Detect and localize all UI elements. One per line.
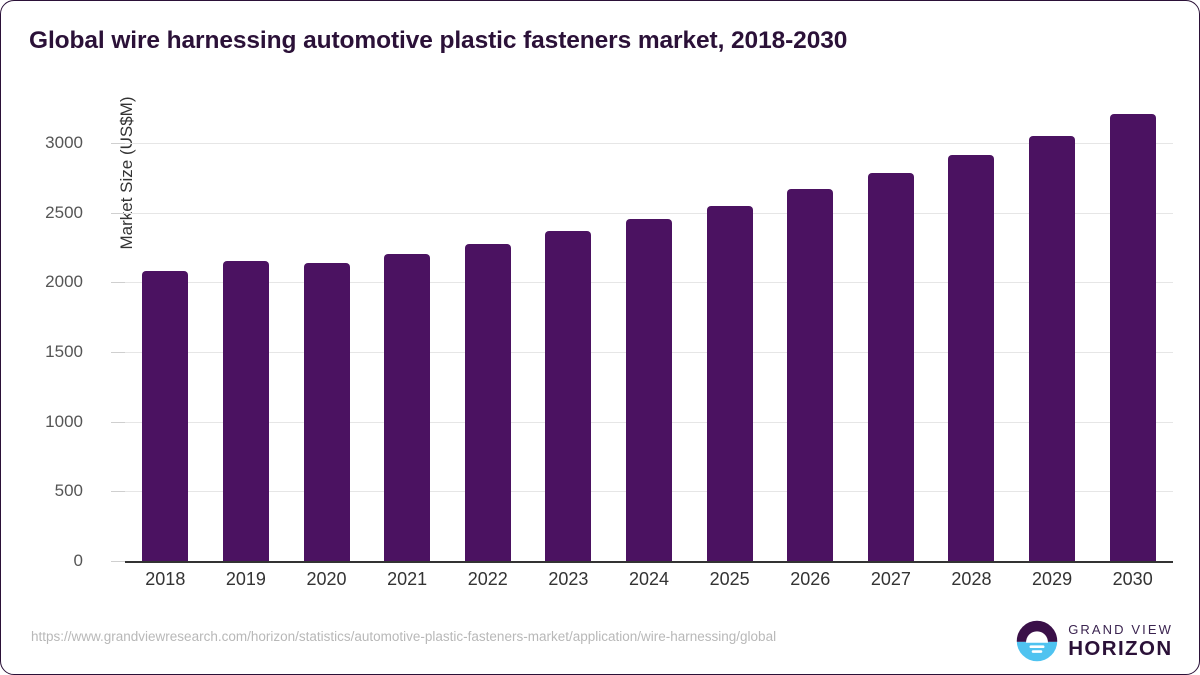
source-url-text: https://www.grandviewresearch.com/horizo… — [31, 629, 776, 644]
y-axis-tick-mark — [111, 491, 125, 492]
bar-2028[interactable] — [948, 155, 994, 561]
bar-2020[interactable] — [304, 263, 350, 561]
page-title: Global wire harnessing automotive plasti… — [29, 27, 847, 55]
x-axis-tick-label-2027: 2027 — [851, 569, 932, 590]
y-axis-tick-mark — [111, 352, 125, 353]
y-axis-tick-mark — [111, 422, 125, 423]
x-axis-tick-label-2024: 2024 — [609, 569, 690, 590]
x-axis-tick-label-2026: 2026 — [770, 569, 851, 590]
brand-line-1: GRAND VIEW — [1068, 623, 1173, 636]
x-axis-tick-label-2025: 2025 — [689, 569, 770, 590]
y-axis-title: Market Size (US$M) — [117, 13, 137, 333]
x-axis-tick-label-2020: 2020 — [286, 569, 367, 590]
bar-2030[interactable] — [1110, 114, 1156, 561]
x-axis-tick-label-2021: 2021 — [367, 569, 448, 590]
x-axis-baseline — [125, 561, 1173, 563]
y-axis-tick-label: 2500 — [3, 203, 83, 223]
y-axis-tick-label: 500 — [3, 481, 83, 501]
x-axis-tick-label-2019: 2019 — [206, 569, 287, 590]
bar-2018[interactable] — [142, 271, 188, 561]
bar-2023[interactable] — [545, 231, 591, 561]
bar-2026[interactable] — [787, 189, 833, 561]
bar-2029[interactable] — [1029, 136, 1075, 561]
bar-2024[interactable] — [626, 219, 672, 561]
y-axis-tick-label: 3000 — [3, 133, 83, 153]
bar-2025[interactable] — [707, 206, 753, 561]
chart-canvas: Global wire harnessing automotive plasti… — [0, 0, 1200, 675]
x-axis-tick-label-2022: 2022 — [447, 569, 528, 590]
gridline — [125, 143, 1173, 144]
y-axis-tick-mark — [111, 561, 125, 562]
y-axis-tick-mark — [111, 282, 125, 283]
x-axis-tick-label-2028: 2028 — [931, 569, 1012, 590]
gridline — [125, 213, 1173, 214]
y-axis-tick-mark — [111, 143, 125, 144]
y-axis-tick-label: 1000 — [3, 412, 83, 432]
bar-2027[interactable] — [868, 173, 914, 561]
bar-2021[interactable] — [384, 254, 430, 561]
x-axis-tick-label-2030: 2030 — [1092, 569, 1173, 590]
bar-2019[interactable] — [223, 261, 269, 561]
brand-logo: GRAND VIEW HORIZON — [1015, 619, 1173, 663]
brand-line-2: HORIZON — [1068, 639, 1173, 660]
x-axis-tick-label-2029: 2029 — [1012, 569, 1093, 590]
y-axis-tick-label: 0 — [3, 551, 83, 571]
y-axis-tick-label: 1500 — [3, 342, 83, 362]
bar-2022[interactable] — [465, 244, 511, 561]
y-axis-tick-mark — [111, 213, 125, 214]
horizon-circle-logo-icon — [1015, 619, 1059, 663]
brand-wordmark: GRAND VIEW HORIZON — [1068, 623, 1173, 660]
x-axis-tick-label-2023: 2023 — [528, 569, 609, 590]
x-axis-tick-label-2018: 2018 — [125, 569, 206, 590]
y-axis-tick-label: 2000 — [3, 272, 83, 292]
plot-area: Market Size (US$M) 050010001500200025003… — [125, 101, 1173, 561]
